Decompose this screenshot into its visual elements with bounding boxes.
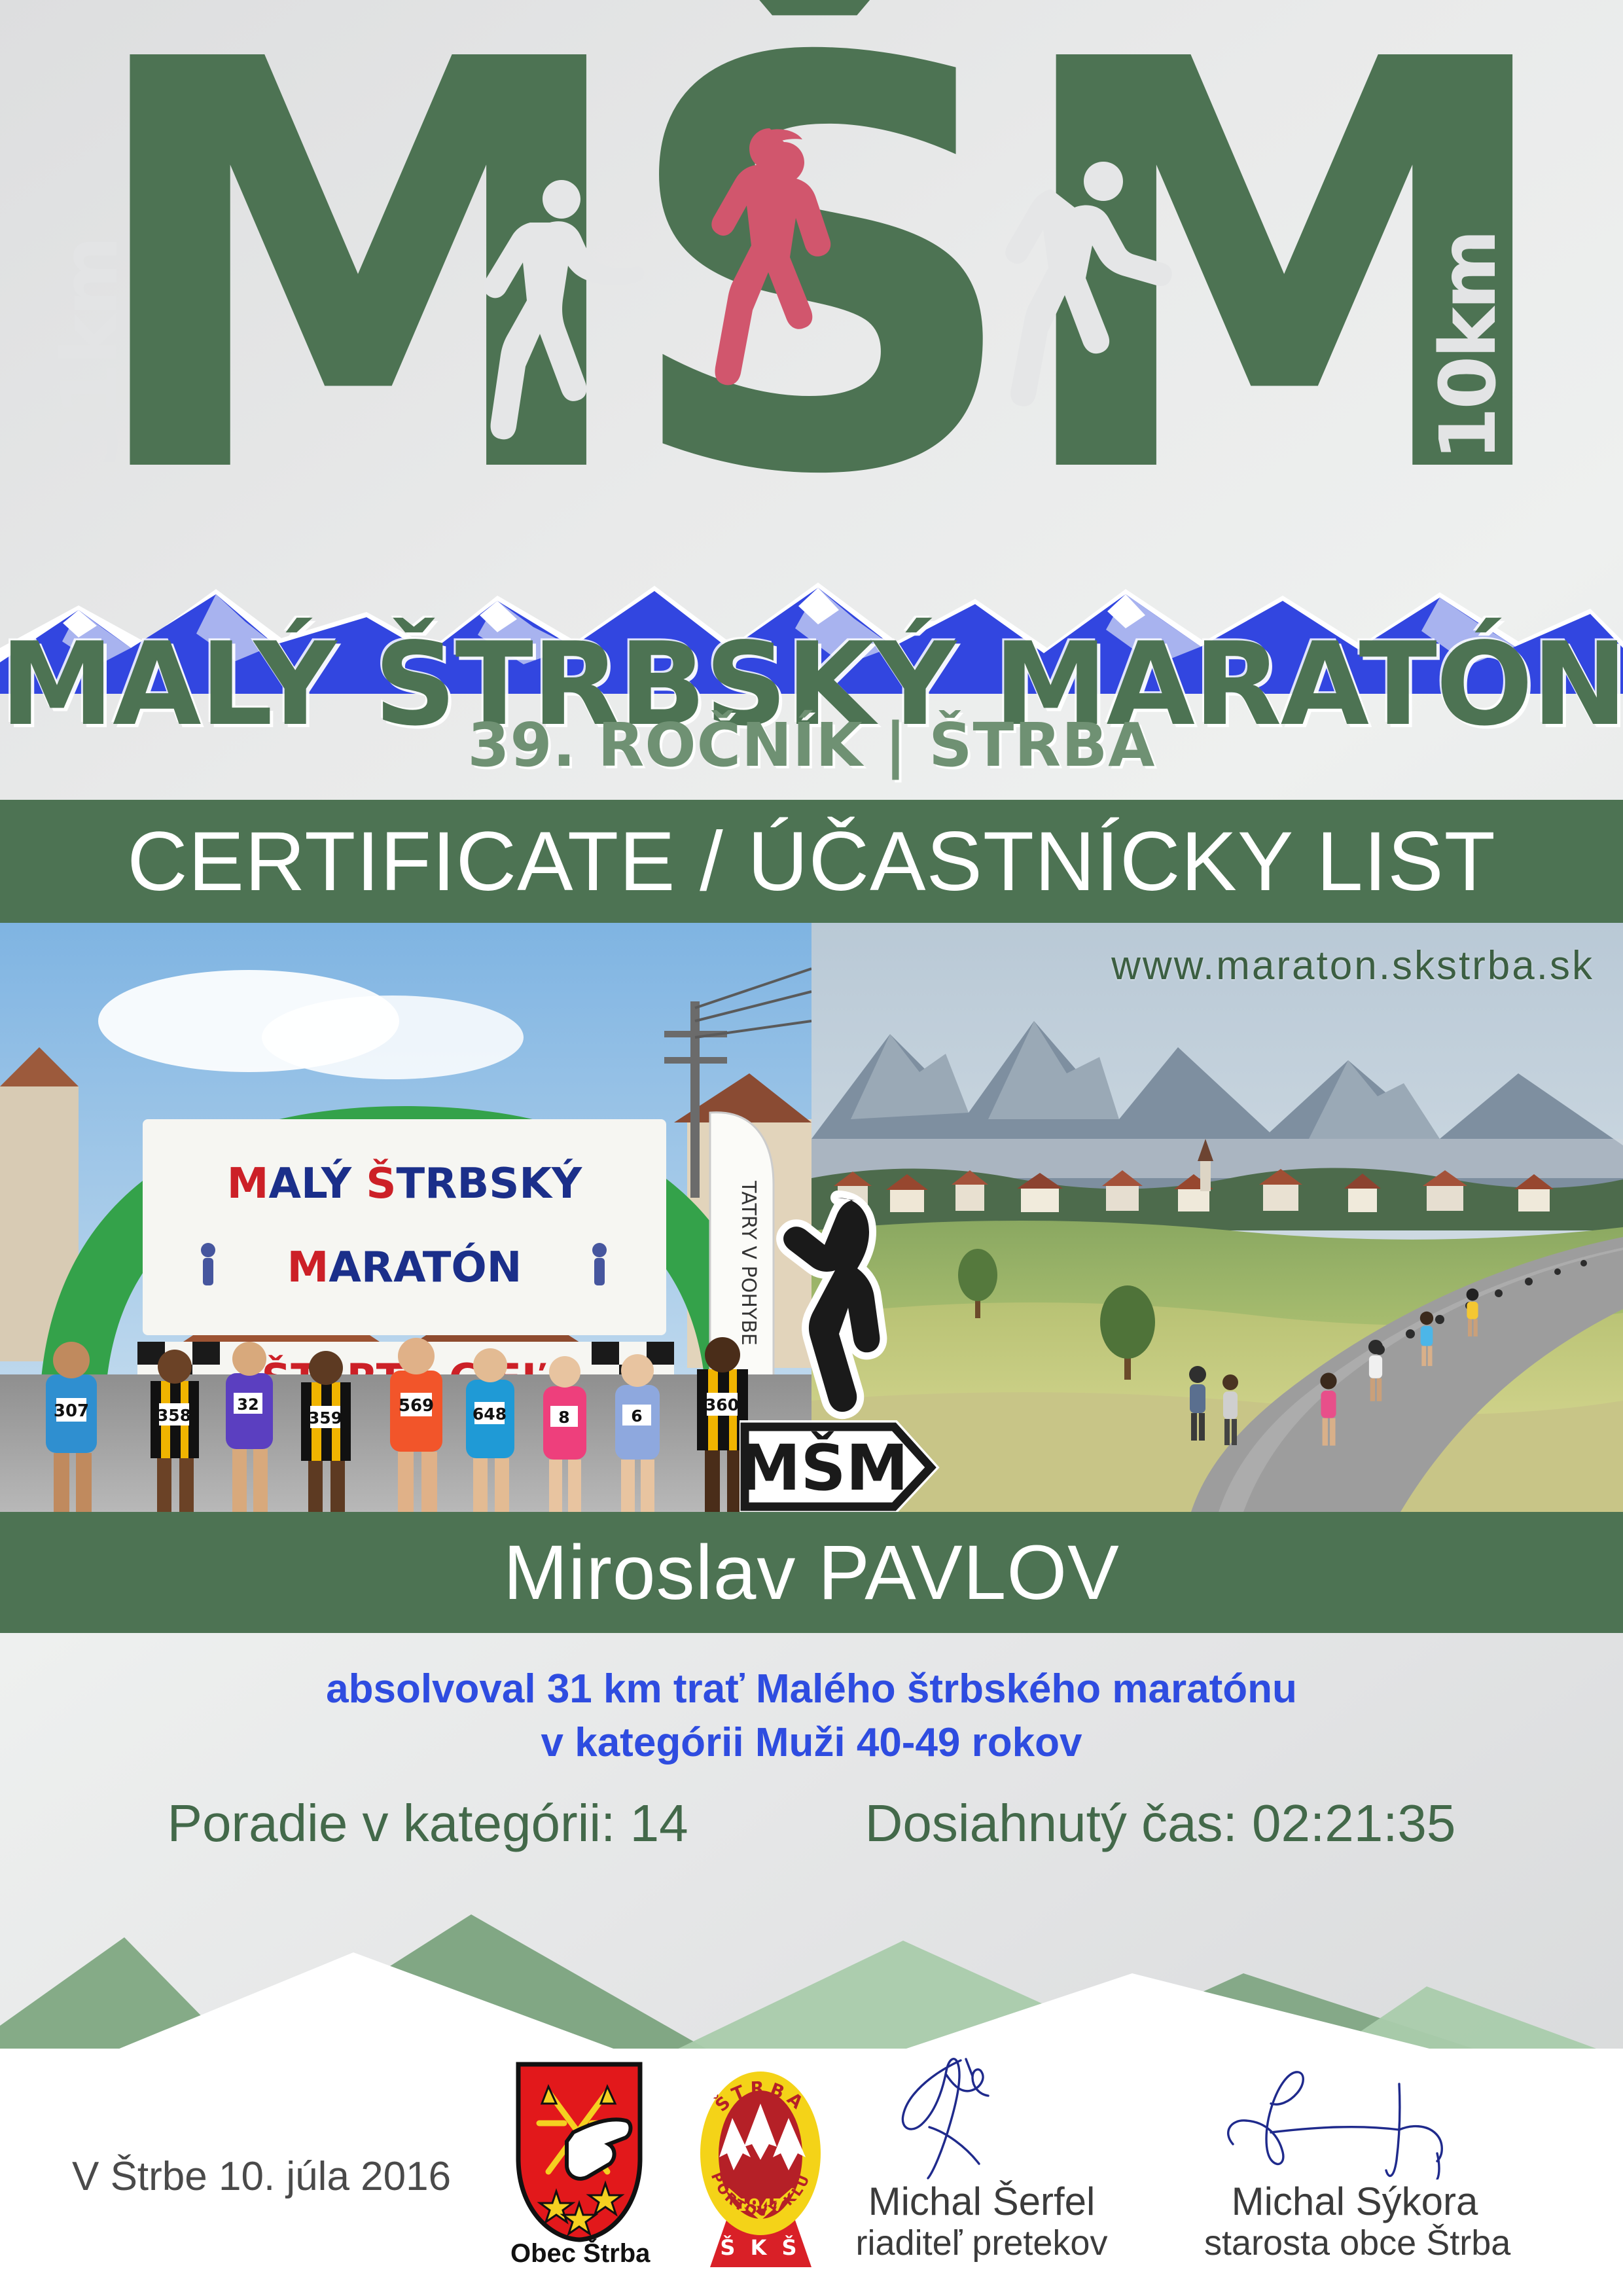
svg-text:32: 32 <box>237 1395 259 1414</box>
category-rank: Poradie v kategórii: 14 <box>168 1793 688 1854</box>
signature-mark-serfel <box>851 2055 1113 2179</box>
signature-role-2: starosta obce Štrba <box>1204 2223 1505 2263</box>
svg-text:6: 6 <box>631 1407 642 1426</box>
svg-text:359: 359 <box>308 1408 342 1427</box>
results-row: Poradie v kategórii: 14 Dosiahnutý čas: … <box>0 1793 1623 1854</box>
signature-name-1: Michal Šerfel <box>844 2179 1119 2223</box>
signature-name-2: Michal Sýkora <box>1204 2179 1505 2223</box>
start-line-illustration: MALÝ ŠTRBSKÝ MARATÓN <box>0 923 811 1512</box>
achievement-line-2: v kategórii Muži 40-49 rokov <box>0 1716 1623 1770</box>
svg-text:MALÝ ŠTRBSKÝ: MALÝ ŠTRBSKÝ <box>227 1158 582 1208</box>
finish-time: Dosiahnutý čas: 02:21:35 <box>865 1793 1456 1854</box>
svg-text:8: 8 <box>558 1408 569 1427</box>
signature-mark-sykora <box>1211 2055 1499 2179</box>
distance-label-31km: 31km <box>45 238 135 467</box>
distance-label-10km: 10km <box>1423 232 1513 461</box>
photo-strip: MALÝ ŠTRBSKÝ MARATÓN <box>0 923 1623 1512</box>
signature-role-1: riaditeľ pretekov <box>844 2223 1119 2263</box>
crest-obec-caption: Obec Štrba <box>510 2239 648 2269</box>
certificate-page: MŠM 31km 10km MALÝ ŠTRBSKÝ <box>0 0 1623 2296</box>
certificate-footer: V Štrbe 10. júla 2016 <box>0 2049 1623 2296</box>
msm-runner-badge: MŠM <box>740 1172 949 1512</box>
badge-text: MŠM <box>740 1431 908 1505</box>
crest-initials: Š K Š <box>720 2234 800 2260</box>
svg-text:648: 648 <box>473 1405 507 1424</box>
photo-start-line: MALÝ ŠTRBSKÝ MARATÓN <box>0 923 811 1512</box>
event-subtitle: 39. ROČNÍK | ŠTRBA <box>0 710 1623 780</box>
participant-name-band: Miroslav PAVLOV <box>0 1512 1623 1633</box>
certificate-heading-band: CERTIFICATE / ÚČASTNÍCKY LIST <box>0 800 1623 923</box>
svg-text:307: 307 <box>54 1401 89 1421</box>
achievement-description: absolvoval 31 km trať Malého štrbského m… <box>0 1662 1623 1770</box>
svg-text:569: 569 <box>399 1396 434 1416</box>
certificate-heading: CERTIFICATE / ÚČASTNÍCKY LIST <box>127 814 1496 910</box>
participant-name: Miroslav PAVLOV <box>503 1528 1120 1617</box>
svg-text:358: 358 <box>157 1406 191 1425</box>
svg-text:360: 360 <box>705 1395 739 1414</box>
crest-sks-strba: 1947 ŠTRBA ŠPORTOVÝ KLUB Š K Š <box>690 2055 831 2271</box>
svg-text:MARATÓN: MARATÓN <box>287 1242 522 1292</box>
website-url[interactable]: www.maraton.skstrba.sk <box>1111 942 1594 989</box>
runner-silhouette-female-center <box>681 128 877 586</box>
event-logo-block: MŠM 31km 10km MALÝ ŠTRBSKÝ <box>0 0 1623 792</box>
issue-date: V Štrbe 10. júla 2016 <box>72 2153 451 2200</box>
runner-silhouette-male-right <box>982 147 1191 566</box>
achievement-line-1: absolvoval 31 km trať Malého štrbského m… <box>0 1662 1623 1716</box>
crest-obec-strba: Obec Štrba <box>510 2060 648 2270</box>
runner-silhouette-male-left <box>452 160 648 566</box>
signature-block-mayor: Michal Sýkora starosta obce Štrba <box>1204 2055 1505 2263</box>
signature-block-director: Michal Šerfel riaditeľ pretekov <box>844 2055 1119 2263</box>
